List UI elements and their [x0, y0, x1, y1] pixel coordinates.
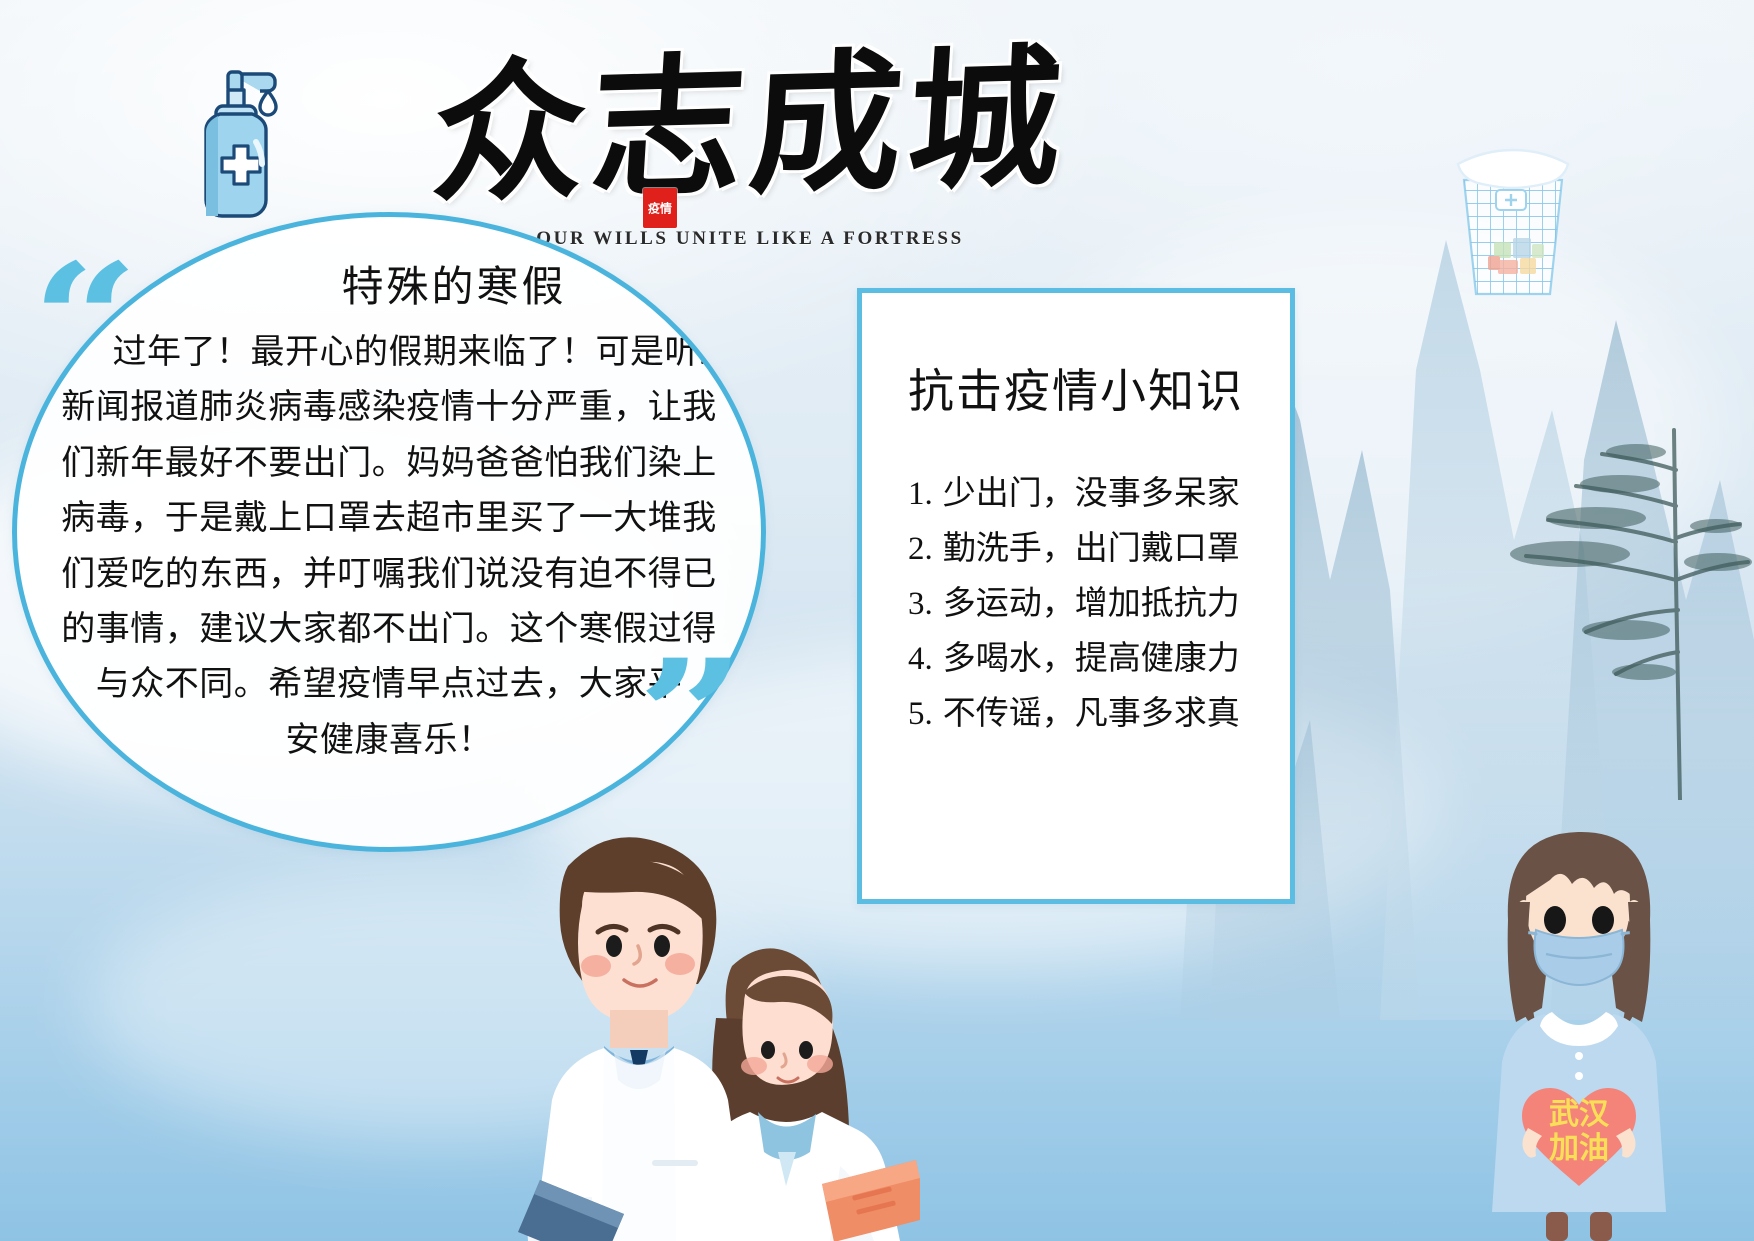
calligraphy-title: 众志成城 [429, 41, 1072, 209]
story-line: 与众不同。希望疫情早点过去，大家平 [39, 657, 739, 712]
story-line: 新闻报道肺炎病毒感染疫情十分严重，让我 [39, 380, 739, 435]
poster-canvas: 众志成城 疫情 OUR WILLS UNITE LIKE A FORTRESS [0, 0, 1754, 1241]
red-seal-text: 疫情 [648, 202, 672, 214]
tips-panel: 抗击疫情小知识 1.少出门，没事多呆家 2.勤洗手，出门戴口罩 3.多运动，增加… [857, 288, 1295, 904]
tips-item-text: 不传谣，凡事多求真 [943, 696, 1240, 732]
story-line: 们爱吃的东西，并叮嘱我们说没有迫不得已 [39, 547, 739, 602]
story-line: 病毒，于是戴上口罩去超市里买了一大堆我 [39, 491, 739, 546]
hand-sanitizer-icon [176, 62, 282, 222]
waste-basket-icon [1438, 138, 1588, 298]
tips-item-number: 2. [908, 531, 933, 567]
tips-list-item: 1.少出门，没事多呆家 [908, 467, 1290, 522]
tips-item-text: 勤洗手，出门戴口罩 [943, 531, 1240, 567]
story-line: 的事情，建议大家都不出门。这个寒假过得 [39, 602, 739, 657]
calligraphy-title-wrap: 众志成城 [470, 8, 1030, 243]
tips-item-number: 4. [908, 641, 933, 677]
heart-sign-line1: 武汉 [1549, 1098, 1610, 1131]
tips-item-number: 5. [908, 696, 933, 732]
heart-sign-line2: 加油 [1549, 1132, 1609, 1165]
tips-item-number: 1. [908, 476, 933, 512]
tips-list-item: 5.不传谣，凡事多求真 [908, 687, 1290, 742]
masked-girl-illustration: 武汉 加油 [1484, 808, 1674, 1241]
tips-panel-title: 抗击疫情小知识 [862, 355, 1290, 421]
tips-list-item: 2.勤洗手，出门戴口罩 [908, 522, 1290, 577]
tips-list-item: 4.多喝水，提高健康力 [908, 632, 1290, 687]
quote-close-mark: ” [637, 640, 745, 790]
doctor-pair-illustration [500, 760, 920, 1241]
tips-item-number: 3. [908, 586, 933, 622]
tips-list-item: 3.多运动，增加抵抗力 [908, 577, 1290, 632]
tips-list: 1.少出门，没事多呆家 2.勤洗手，出门戴口罩 3.多运动，增加抵抗力 4.多喝… [862, 467, 1290, 743]
tips-item-text: 多喝水，提高健康力 [943, 641, 1240, 677]
quote-open-mark: “ [31, 244, 139, 394]
story-line: 们新年最好不要出门。妈妈爸爸怕我们染上 [39, 436, 739, 491]
tips-item-text: 多运动，增加抵抗力 [943, 586, 1240, 622]
story-body: 过年了！最开心的假期来临了！可是听到 新闻报道肺炎病毒感染疫情十分严重，让我 们… [39, 325, 739, 768]
tips-item-text: 少出门，没事多呆家 [943, 476, 1240, 512]
story-line: 过年了！最开心的假期来临了！可是听到 [39, 325, 739, 380]
